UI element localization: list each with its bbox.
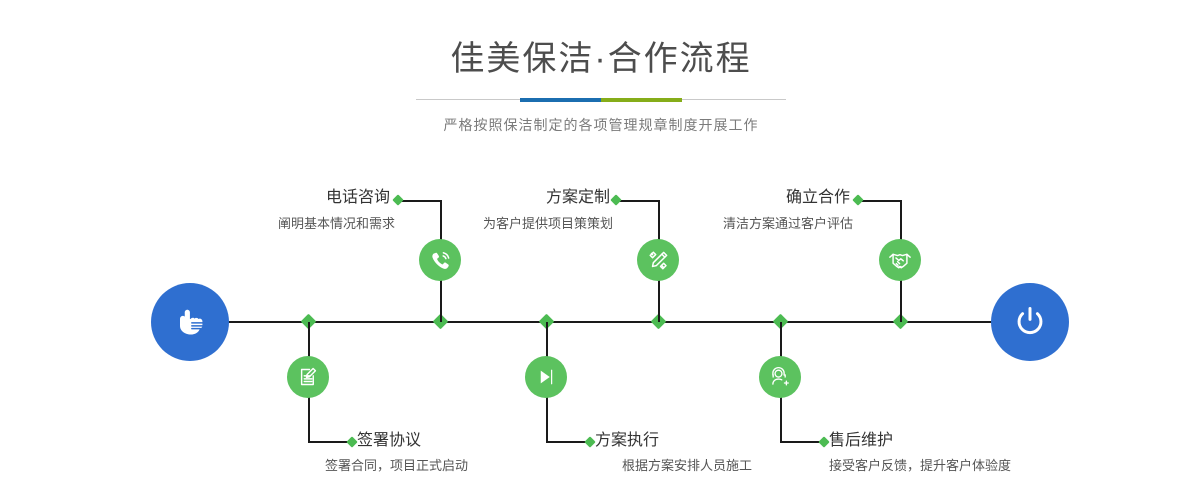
label-marker-3 (610, 194, 621, 205)
divider-segment-green (601, 98, 682, 102)
pencil-ruler-icon (646, 248, 671, 273)
label-marker-6 (818, 436, 829, 447)
label-marker-5 (852, 194, 863, 205)
step-icon-6[interactable] (759, 356, 801, 398)
step-desc-2: 签署合同，项目正式启动 (325, 459, 468, 472)
divider-segment-blue (520, 98, 601, 102)
handshake-icon (887, 247, 913, 273)
play-skip-icon (534, 365, 558, 389)
title-divider (416, 98, 786, 102)
pointing-hand-icon (170, 302, 210, 342)
step-icon-1[interactable] (419, 239, 461, 281)
step-icon-4[interactable] (525, 356, 567, 398)
timeline-end-node[interactable] (991, 283, 1069, 361)
step-desc-4: 根据方案安排人员施工 (622, 459, 752, 472)
step-icon-3[interactable] (637, 239, 679, 281)
step-title-2: 签署协议 (357, 433, 421, 449)
connector-horizontal-3 (617, 200, 660, 202)
connector-horizontal-5 (859, 200, 902, 202)
flowchart-canvas: 佳美保洁·合作流程 严格按照保洁制定的各项管理规章制度开展工作 (0, 0, 1202, 502)
step-title-4: 方案执行 (595, 433, 659, 449)
timeline-start-node[interactable] (151, 283, 229, 361)
power-icon (1009, 301, 1051, 343)
page-subtitle: 严格按照保洁制定的各项管理规章制度开展工作 (0, 115, 1202, 135)
page-header: 佳美保洁·合作流程 严格按照保洁制定的各项管理规章制度开展工作 (0, 0, 1202, 135)
label-marker-4 (584, 436, 595, 447)
step-title-6: 售后维护 (829, 433, 893, 449)
step-title-3: 方案定制 (420, 190, 610, 206)
document-edit-icon (296, 365, 320, 389)
step-title-5: 确立合作 (660, 190, 850, 206)
step-desc-5: 清洁方案通过客户评估 (600, 217, 853, 230)
step-desc-3: 为客户提供项目策策划 (360, 217, 613, 230)
step-title-1: 电话咨询 (200, 190, 390, 206)
headset-support-icon (768, 365, 792, 389)
step-desc-6: 接受客户反馈，提升客户体验度 (829, 459, 1011, 472)
label-marker-1 (392, 194, 403, 205)
phone-call-icon (428, 248, 453, 273)
step-icon-2[interactable] (287, 356, 329, 398)
label-marker-2 (346, 436, 357, 447)
step-desc-1: 阐明基本情况和需求 (140, 217, 395, 230)
step-icon-5[interactable] (879, 239, 921, 281)
page-title: 佳美保洁·合作流程 (0, 42, 1202, 76)
